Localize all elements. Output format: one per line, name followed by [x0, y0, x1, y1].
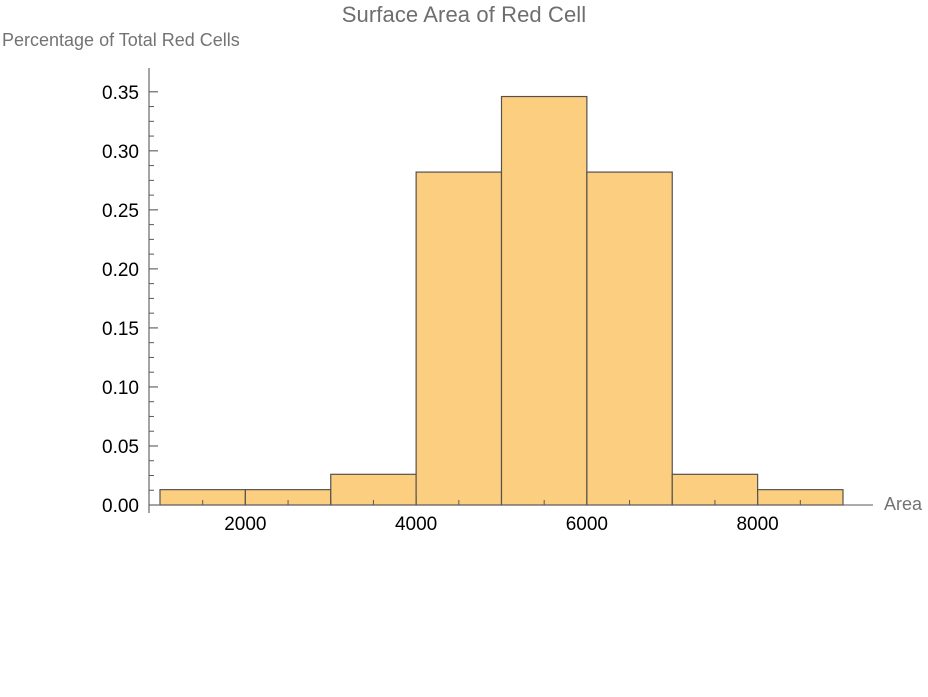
- x-tick-label: 4000: [395, 514, 437, 535]
- histogram-bar: [587, 172, 672, 505]
- chart-figure: Surface Area of Red Cell Percentage of T…: [0, 0, 928, 697]
- x-tick-label: 6000: [566, 514, 608, 535]
- y-tick-label: 0.35: [102, 83, 139, 104]
- y-tick-label: 0.05: [102, 437, 139, 458]
- y-tick-label: 0.15: [102, 319, 139, 340]
- histogram-plot: 0.000.050.100.150.200.250.300.3520004000…: [0, 0, 928, 697]
- bars-group: [160, 97, 843, 505]
- histogram-bar: [416, 172, 501, 505]
- x-tick-label: 2000: [224, 514, 266, 535]
- y-tick-label: 0.25: [102, 201, 139, 222]
- y-tick-label: 0.30: [102, 142, 139, 163]
- histogram-bar: [502, 97, 587, 505]
- y-tick-label: 0.10: [102, 378, 139, 399]
- x-tick-label: 8000: [736, 514, 778, 535]
- y-tick-label: 0.20: [102, 260, 139, 281]
- y-tick-label: 0.00: [102, 496, 139, 517]
